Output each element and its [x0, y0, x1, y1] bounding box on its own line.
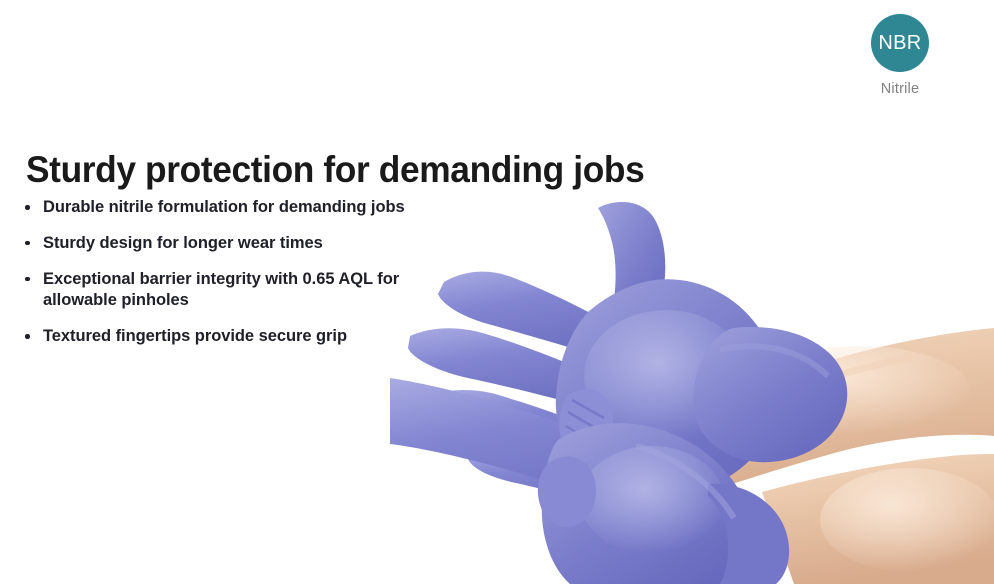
- nitrile-caption: Nitrile: [844, 81, 956, 97]
- list-item-label: Durable nitrile formulation for demandin…: [43, 198, 405, 216]
- bullet-dot-icon: [25, 334, 30, 339]
- page-title: Sturdy protection for demanding jobs: [26, 149, 644, 190]
- bullet-dot-icon: [25, 205, 30, 210]
- list-item: Sturdy design for longer wear times: [22, 233, 442, 255]
- list-item-label: Textured fingertips provide secure grip: [43, 327, 347, 345]
- list-item-label: Exceptional barrier integrity with 0.65 …: [43, 270, 399, 310]
- feature-bullet-list: Durable nitrile formulation for demandin…: [22, 197, 442, 348]
- list-item: Durable nitrile formulation for demandin…: [22, 197, 442, 219]
- nbr-badge-label: NBR: [878, 33, 921, 53]
- nitrile-gloves-photo: [390, 200, 994, 584]
- nbr-nitrile-badge: NBR Nitrile: [844, 14, 956, 97]
- lower-forearm-highlight: [820, 468, 994, 572]
- list-item-label: Sturdy design for longer wear times: [43, 234, 323, 252]
- bullet-dot-icon: [25, 241, 30, 246]
- bullet-dot-icon: [25, 277, 30, 282]
- list-item: Textured fingertips provide secure grip: [22, 326, 442, 348]
- glove-fist-highlight: [580, 446, 724, 554]
- nbr-badge-circle: NBR: [871, 14, 929, 72]
- gloves-illustration: [390, 200, 994, 584]
- glove-fist-thumb: [538, 457, 596, 527]
- slide-canvas: NBR Nitrile Sturdy protection for demand…: [0, 0, 994, 584]
- list-item: Exceptional barrier integrity with 0.65 …: [22, 269, 442, 313]
